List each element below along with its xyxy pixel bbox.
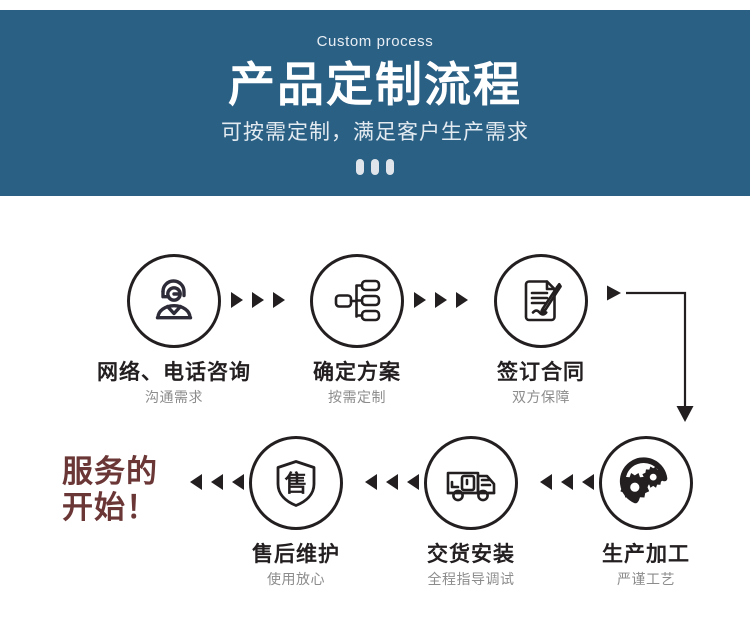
flow-step-production[interactable]: 生产加工 严谨工艺 [561, 436, 731, 587]
elbow-connector-row1-to-row2 [604, 282, 704, 435]
flow-step-consultation[interactable]: 网络、电话咨询 沟通需求 [89, 254, 259, 405]
header-eyebrow: Custom process [0, 10, 750, 49]
arrow-right-icon [414, 292, 426, 308]
arrow-left-icon [190, 474, 202, 490]
flow-step-label: 售后维护 [211, 543, 381, 566]
service-start-line2: 开始！ [62, 490, 158, 526]
flowchart-plan-icon [310, 254, 404, 348]
dot-3 [386, 159, 394, 175]
service-start-callout: 服务的 开始！ [62, 454, 158, 526]
headset-person-icon [127, 254, 221, 348]
delivery-truck-icon [424, 436, 518, 530]
flow-step-sublabel: 使用放心 [211, 572, 381, 587]
flow-step-label: 确定方案 [272, 361, 442, 384]
flow-step-sublabel: 沟通需求 [89, 390, 259, 405]
service-start-line1: 服务的 [62, 454, 158, 490]
page-title: 产品定制流程 [0, 49, 750, 112]
gears-production-icon [599, 436, 693, 530]
arrow-right-icon [231, 292, 243, 308]
flow-step-delivery[interactable]: 交货安装 全程指导调试 [386, 436, 556, 587]
arrow-left-icon [540, 474, 552, 490]
arrow-down-icon [677, 406, 694, 422]
arrow-right-icon [607, 286, 621, 301]
process-flow-diagram: 网络、电话咨询 沟通需求 确定方案 按需定制 [0, 196, 750, 630]
header-subtitle: 可按需定制，满足客户生产需求 [0, 112, 750, 145]
page-header: Custom process 产品定制流程 可按需定制，满足客户生产需求 [0, 10, 750, 196]
flow-step-plan[interactable]: 确定方案 按需定制 [272, 254, 442, 405]
dot-1 [356, 159, 364, 175]
flow-step-after-sales[interactable]: 售 售后维护 使用放心 [211, 436, 381, 587]
flow-step-label: 生产加工 [561, 543, 731, 566]
arrow-left-icon [365, 474, 377, 490]
contract-signing-icon [494, 254, 588, 348]
flow-step-sublabel: 按需定制 [272, 390, 442, 405]
shield-icon-text: 售 [285, 470, 308, 496]
header-dots-decoration [356, 145, 394, 175]
flow-step-label: 网络、电话咨询 [89, 361, 259, 384]
flow-step-sublabel: 严谨工艺 [561, 572, 731, 587]
flow-step-label: 交货安装 [386, 543, 556, 566]
flow-step-sublabel: 全程指导调试 [386, 572, 556, 587]
flow-step-contract[interactable]: 签订合同 双方保障 [456, 254, 626, 405]
arrow-right-icon [435, 292, 447, 308]
flow-step-sublabel: 双方保障 [456, 390, 626, 405]
flow-step-label: 签订合同 [456, 361, 626, 384]
dot-2 [371, 159, 379, 175]
shield-after-sales-icon: 售 [249, 436, 343, 530]
arrow-right-icon [252, 292, 264, 308]
